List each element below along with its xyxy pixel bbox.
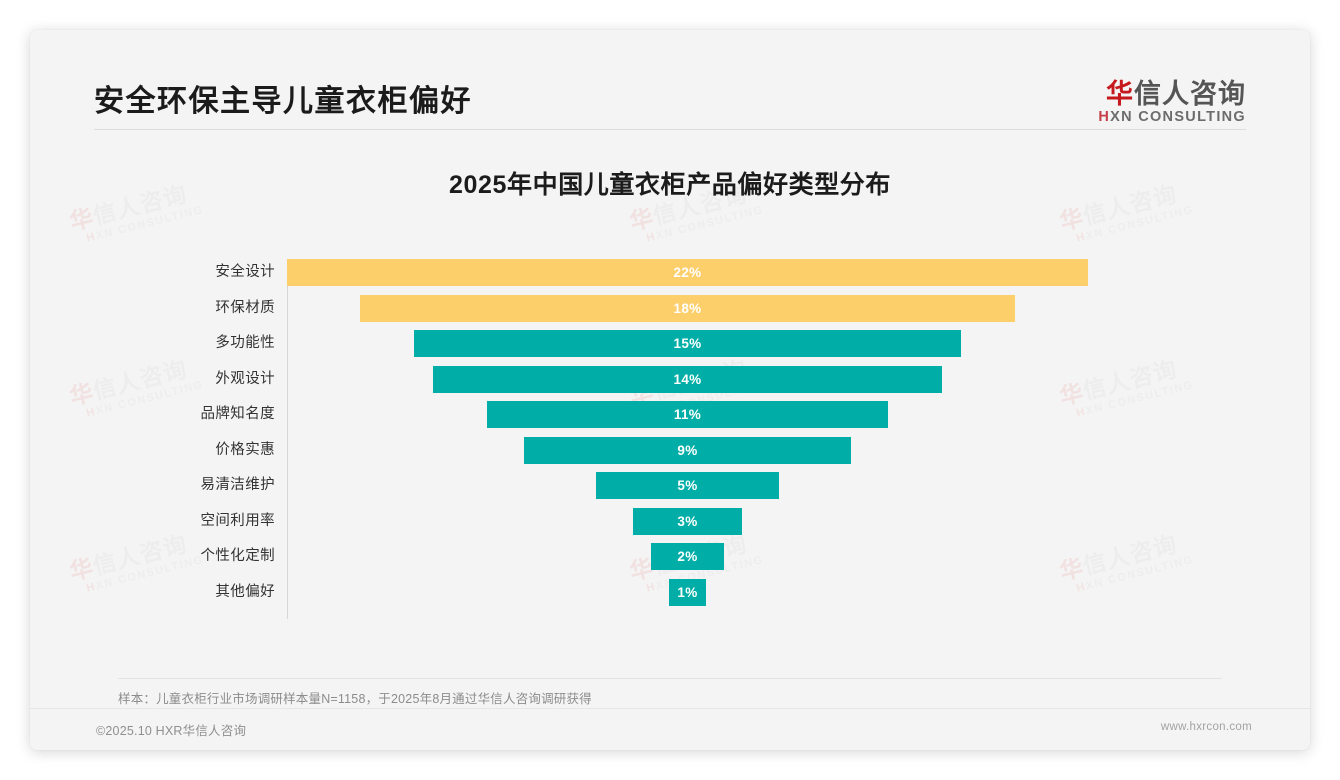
bar-3[interactable]: 15% xyxy=(414,330,960,357)
bar-value-label-7: 5% xyxy=(677,478,697,493)
category-label-5: 品牌知名度 xyxy=(100,400,275,428)
category-label-8: 空间利用率 xyxy=(100,507,275,535)
watermark-en-accent: H xyxy=(85,231,97,245)
page-title: 安全环保主导儿童衣柜偏好 xyxy=(94,76,472,120)
header-divider xyxy=(94,129,1246,130)
bar-5[interactable]: 11% xyxy=(487,401,888,428)
logo-en-text: XN CONSULTING xyxy=(1110,109,1246,125)
chart-row: 外观设计14% xyxy=(100,365,1230,393)
footnote-divider xyxy=(118,678,1222,679)
category-label-4: 外观设计 xyxy=(100,365,275,393)
slide-header: 安全环保主导儿童衣柜偏好 华信人咨询 HXN CONSULTING xyxy=(94,60,1246,130)
chart-row: 个性化定制2% xyxy=(100,542,1230,570)
category-label-1: 安全设计 xyxy=(100,258,275,286)
bar-4[interactable]: 14% xyxy=(433,366,943,393)
watermark-en-text: XN CONSULTING xyxy=(654,204,765,243)
chart-title: 2025年中国儿童衣柜产品偏好类型分布 xyxy=(30,165,1310,201)
bar-value-label-2: 18% xyxy=(674,301,702,316)
bar-value-label-9: 2% xyxy=(677,549,697,564)
chart-row: 其他偏好1% xyxy=(100,578,1230,606)
bar-1[interactable]: 22% xyxy=(287,259,1088,286)
watermark-en-accent: H xyxy=(1075,231,1087,245)
logo-cn-text: 信人咨询 xyxy=(1134,79,1246,109)
bar-8[interactable]: 3% xyxy=(633,508,742,535)
bar-7[interactable]: 5% xyxy=(596,472,778,499)
watermark-en-accent: H xyxy=(645,231,657,245)
chart-row: 环保材质18% xyxy=(100,294,1230,322)
watermark-accent-char: 华 xyxy=(67,204,97,235)
chart-row: 品牌知名度11% xyxy=(100,400,1230,428)
watermark-en-text: XN CONSULTING xyxy=(1084,204,1195,243)
category-label-6: 价格实惠 xyxy=(100,436,275,464)
chart-row: 多功能性15% xyxy=(100,329,1230,357)
chart-row: 易清洁维护5% xyxy=(100,471,1230,499)
funnel-bar-chart: 安全设计22%环保材质18%多功能性15%外观设计14%品牌知名度11%价格实惠… xyxy=(100,258,1230,653)
category-label-9: 个性化定制 xyxy=(100,542,275,570)
bar-value-label-5: 11% xyxy=(674,407,701,422)
bar-10[interactable]: 1% xyxy=(669,579,705,606)
bar-value-label-3: 15% xyxy=(674,336,702,351)
watermark-en-text: XN CONSULTING xyxy=(94,204,205,243)
bar-9[interactable]: 2% xyxy=(651,543,724,570)
chart-row: 安全设计22% xyxy=(100,258,1230,286)
watermark-en-accent: H xyxy=(85,406,97,420)
copyright-text: ©2025.10 HXR华信人咨询 xyxy=(96,720,246,739)
bar-value-label-4: 14% xyxy=(674,372,702,387)
bar-2[interactable]: 18% xyxy=(360,295,1015,322)
slide-footer: ©2025.10 HXR华信人咨询 www.hxrcon.com xyxy=(30,708,1310,750)
bar-value-label-6: 9% xyxy=(677,443,697,458)
category-label-2: 环保材质 xyxy=(100,294,275,322)
watermark-accent-char: 华 xyxy=(1057,204,1087,235)
category-label-10: 其他偏好 xyxy=(100,578,275,606)
website-url: www.hxrcon.com xyxy=(1161,721,1252,733)
logo-en-accent: H xyxy=(1098,109,1110,125)
category-label-7: 易清洁维护 xyxy=(100,471,275,499)
watermark-accent-char: 华 xyxy=(67,379,97,410)
bar-value-label-8: 3% xyxy=(677,514,697,529)
bar-6[interactable]: 9% xyxy=(524,437,852,464)
watermark-accent-char: 华 xyxy=(627,204,657,235)
chart-row: 价格实惠9% xyxy=(100,436,1230,464)
slide-canvas: 华信人咨询 HXN CONSULTING 华信人咨询 HXN CONSULTIN… xyxy=(30,30,1310,750)
watermark-en-accent: H xyxy=(85,581,97,595)
footnote-text: 样本：儿童衣柜行业市场调研样本量N=1158，于2025年8月通过华信人咨询调研… xyxy=(118,688,1222,707)
bar-value-label-10: 1% xyxy=(677,585,697,600)
logo-accent-char: 华 xyxy=(1106,79,1134,109)
category-label-3: 多功能性 xyxy=(100,329,275,357)
chart-row: 空间利用率3% xyxy=(100,507,1230,535)
watermark-accent-char: 华 xyxy=(67,554,97,585)
brand-logo: 华信人咨询 HXN CONSULTING xyxy=(1098,80,1246,125)
bar-value-label-1: 22% xyxy=(674,265,702,280)
